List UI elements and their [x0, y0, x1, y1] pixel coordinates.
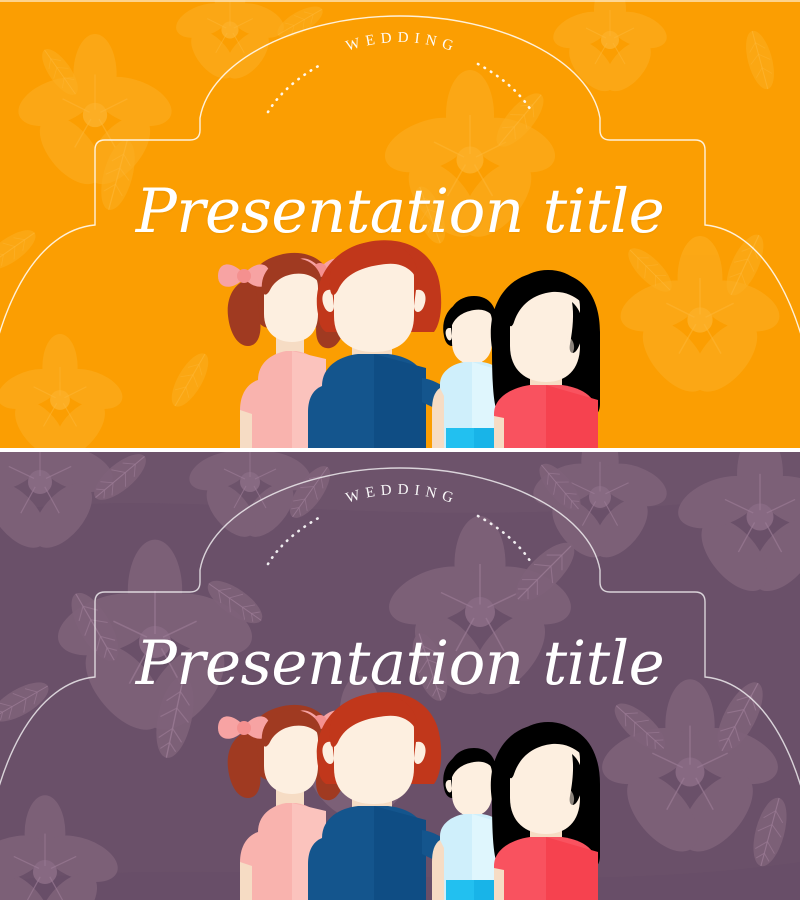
family-illustration-orange [200, 228, 600, 448]
slide-orange[interactable]: W E D D I N G Presentation title [0, 0, 800, 448]
figure-woman [491, 722, 600, 900]
template-preview-page: W E D D I N G Presentation title [0, 0, 800, 900]
slide-purple[interactable]: W E D D I N G Presentation title [0, 452, 800, 900]
family-illustration-purple [200, 680, 600, 900]
figure-woman [491, 270, 600, 448]
